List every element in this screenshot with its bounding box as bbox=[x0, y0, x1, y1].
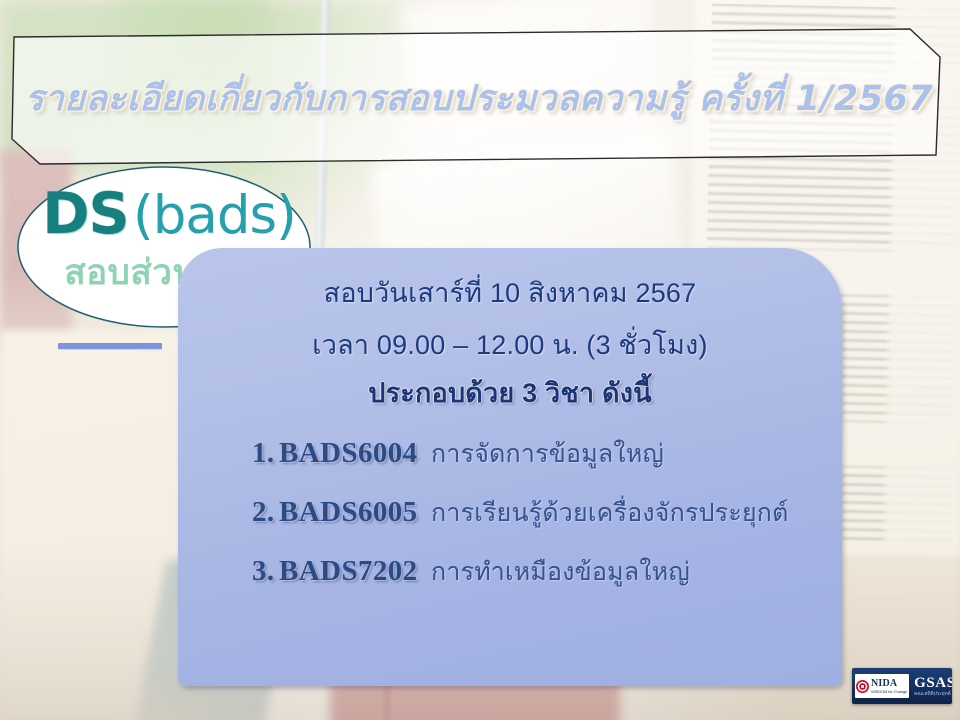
exam-date: สอบวันเสาร์ที่ 10 สิงหาคม 2567 bbox=[212, 274, 808, 313]
decorative-underline bbox=[58, 343, 162, 349]
course-code: BADS6005 bbox=[279, 496, 418, 528]
exam-details-panel: สอบวันเสาร์ที่ 10 สิงหาคม 2567 เวลา 09.0… bbox=[178, 248, 842, 686]
gsas-wordmark: GSAS bbox=[914, 676, 952, 691]
subjects-heading: ประกอบด้วย 3 วิชา ดังนี้ bbox=[212, 374, 808, 413]
list-item: 3. BADS7202 การทำเหมืองข้อมูลใหญ่ bbox=[252, 557, 842, 586]
background-cream-panel bbox=[0, 330, 200, 720]
gsas-lockup: GSAS คณะสถิติประยุกต์ bbox=[914, 676, 952, 697]
nida-tagline: WISDOM for Change bbox=[871, 690, 907, 694]
slide-canvas: รายละเอียดเกี่ยวกับการสอบประมวลความรู้ ค… bbox=[0, 0, 960, 720]
course-name: การจัดการข้อมูลใหญ่ bbox=[431, 440, 664, 468]
exam-time: เวลา 09.00 – 12.00 น. (3 ชั่วโมง) bbox=[212, 326, 808, 365]
nida-wordmark: NIDA bbox=[871, 679, 907, 689]
list-item: 1. BADS6004 การจัดการข้อมูลใหญ่ bbox=[252, 439, 842, 468]
course-code: BADS7202 bbox=[279, 555, 418, 587]
page-title: รายละเอียดเกี่ยวกับการสอบประมวลความรู้ ค… bbox=[10, 71, 948, 126]
course-number: 2. bbox=[252, 496, 275, 528]
course-name: การทำเหมืองข้อมูลใหญ่ bbox=[431, 558, 690, 586]
course-list: 1. BADS6004 การจัดการข้อมูลใหญ่ 2. BADS6… bbox=[178, 439, 842, 586]
panel-heading-group: สอบวันเสาร์ที่ 10 สิงหาคม 2567 เวลา 09.0… bbox=[178, 248, 842, 413]
title-banner: รายละเอียดเกี่ยวกับการสอบประมวลความรู้ ค… bbox=[10, 27, 948, 167]
nida-text-column: NIDA WISDOM for Change bbox=[871, 679, 907, 694]
nida-lockup: NIDA WISDOM for Change bbox=[855, 674, 909, 698]
nida-emblem-icon bbox=[856, 680, 869, 693]
nida-gsas-logo: NIDA WISDOM for Change GSAS คณะสถิติประย… bbox=[852, 668, 952, 704]
course-number: 3. bbox=[252, 555, 275, 587]
list-item: 2. BADS6005 การเรียนรู้ด้วยเครื่องจักรปร… bbox=[252, 498, 842, 527]
course-number: 1. bbox=[252, 437, 275, 469]
gsas-thai-name: คณะสถิติประยุกต์ bbox=[914, 692, 952, 697]
course-name: การเรียนรู้ด้วยเครื่องจักรประยุกต์ bbox=[431, 499, 789, 527]
course-code: BADS6004 bbox=[279, 437, 418, 469]
